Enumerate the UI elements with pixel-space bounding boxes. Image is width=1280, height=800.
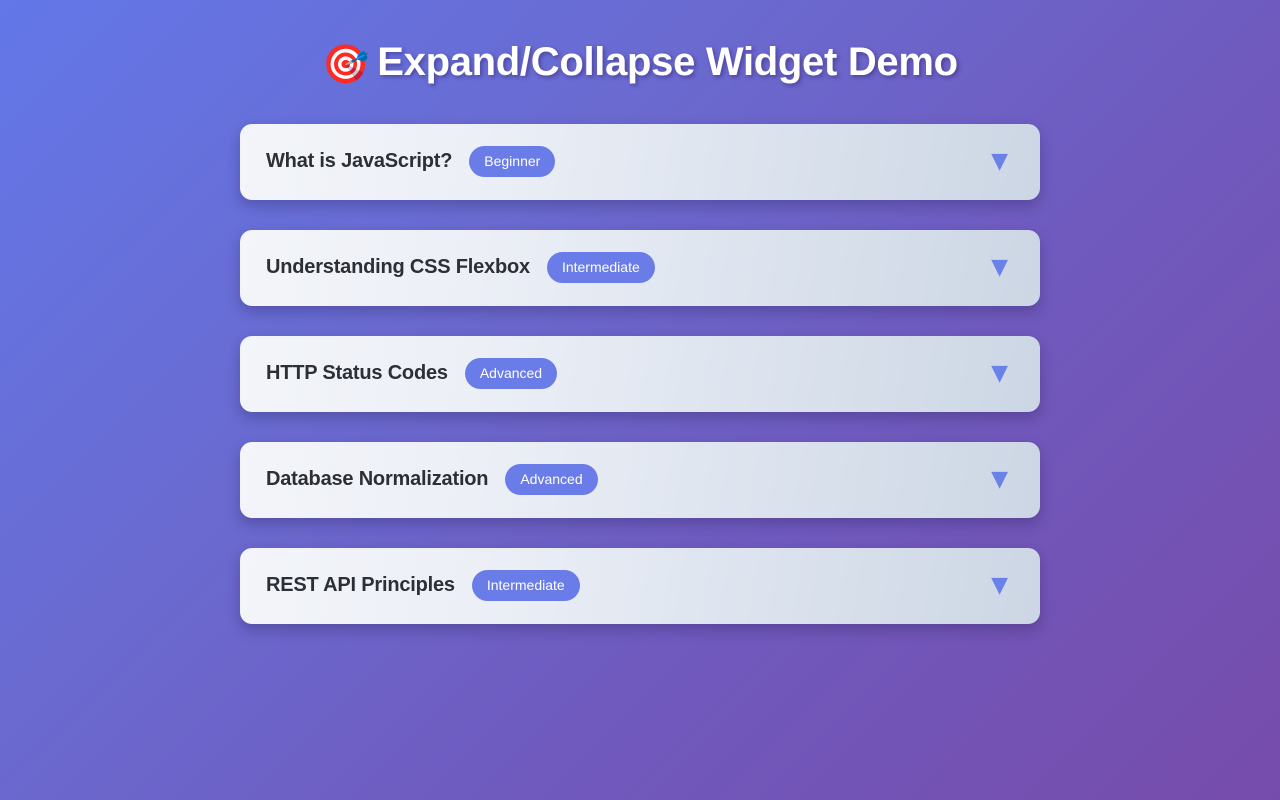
chevron-down-icon[interactable]: ▼: [991, 469, 1008, 491]
accordion-header[interactable]: What is JavaScript?Beginner▼: [240, 124, 1040, 200]
difficulty-badge: Advanced: [505, 464, 597, 495]
page-title-text: Expand/Collapse Widget Demo: [377, 40, 958, 84]
chevron-down-icon[interactable]: ▼: [991, 363, 1008, 385]
difficulty-badge: Beginner: [469, 146, 555, 177]
chevron-down-icon[interactable]: ▼: [991, 151, 1008, 173]
accordion-list: What is JavaScript?Beginner▼Understandin…: [240, 124, 1040, 624]
difficulty-badge: Intermediate: [547, 252, 655, 283]
accordion-item: Understanding CSS FlexboxIntermediate▼: [240, 230, 1040, 306]
accordion-header[interactable]: HTTP Status CodesAdvanced▼: [240, 336, 1040, 412]
accordion-item-title: What is JavaScript?: [266, 150, 452, 173]
difficulty-badge: Advanced: [465, 358, 557, 389]
accordion-item-title: Database Normalization: [266, 468, 488, 491]
page-title: 🎯Expand/Collapse Widget Demo: [0, 38, 1280, 88]
chevron-down-icon[interactable]: ▼: [991, 575, 1008, 597]
accordion-item: REST API PrinciplesIntermediate▼: [240, 548, 1040, 624]
direct-hit-icon: 🎯: [322, 42, 369, 86]
accordion-item-title: HTTP Status Codes: [266, 362, 448, 385]
page-root: 🎯Expand/Collapse Widget Demo What is Jav…: [0, 0, 1280, 800]
accordion-item-title: REST API Principles: [266, 574, 455, 597]
accordion-item-title: Understanding CSS Flexbox: [266, 256, 530, 279]
difficulty-badge: Intermediate: [472, 570, 580, 601]
accordion-item: What is JavaScript?Beginner▼: [240, 124, 1040, 200]
accordion-header[interactable]: Understanding CSS FlexboxIntermediate▼: [240, 230, 1040, 306]
chevron-down-icon[interactable]: ▼: [991, 257, 1008, 279]
accordion-header[interactable]: Database NormalizationAdvanced▼: [240, 442, 1040, 518]
accordion-header[interactable]: REST API PrinciplesIntermediate▼: [240, 548, 1040, 624]
accordion-item: HTTP Status CodesAdvanced▼: [240, 336, 1040, 412]
accordion-item: Database NormalizationAdvanced▼: [240, 442, 1040, 518]
